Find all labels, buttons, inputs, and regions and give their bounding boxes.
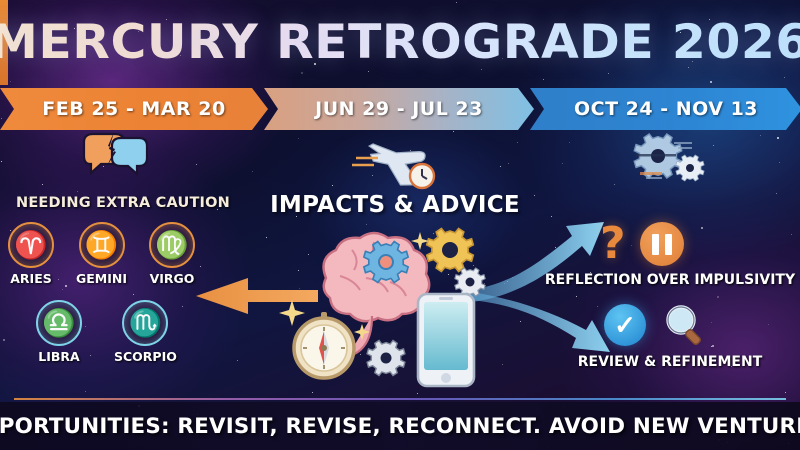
advice-label-review: REVIEW & REFINEMENT <box>540 354 800 370</box>
gear-icon <box>367 341 405 376</box>
footer-banner: OPPORTUNITIES: REVISIT, REVISE, RECONNEC… <box>0 402 800 450</box>
title-banner: MERCURY RETROGRADE 2026 <box>0 0 800 85</box>
page-title: MERCURY RETROGRADE 2026 <box>0 15 800 70</box>
impacts-panel: IMPACTS & ADVICE <box>250 132 540 392</box>
gemini-glyph-icon: ♊ <box>79 222 125 268</box>
zodiac-label-libra: LIBRA <box>38 349 79 364</box>
check-circle-icon: ✓ <box>604 304 646 346</box>
caution-heading: NEEDING EXTRA CAUTION <box>8 195 238 211</box>
zodiac-item-libra[interactable]: ♎ LIBRA <box>36 300 82 364</box>
footer-text: OPPORTUNITIES: REVISIT, REVISE, RECONNEC… <box>0 414 800 438</box>
virgo-glyph-icon: ♍ <box>149 222 195 268</box>
zodiac-row-cool: ♎ LIBRA ♏ SCORPIO <box>36 300 177 364</box>
review-icons: ✓ <box>604 302 708 348</box>
zodiac-item-gemini[interactable]: ♊ GEMINI <box>76 222 127 286</box>
advice-panel: ? REFLECTION OVER IMPULSIVITY ✓ REVIEW &… <box>540 132 800 392</box>
period-label-3: OCT 24 - NOV 13 <box>574 98 758 120</box>
period-chevron-3[interactable]: OCT 24 - NOV 13 <box>530 88 800 130</box>
caution-panel: NEEDING EXTRA CAUTION ♈ ARIES ♊ GEMINI ♍… <box>0 132 250 392</box>
gear-icon <box>427 229 473 272</box>
aries-glyph-icon: ♈ <box>8 222 54 268</box>
zodiac-item-scorpio[interactable]: ♏ SCORPIO <box>114 300 177 364</box>
zodiac-item-virgo[interactable]: ♍ VIRGO <box>149 222 195 286</box>
zodiac-label-scorpio: SCORPIO <box>114 349 177 364</box>
scorpio-glyph-icon: ♏ <box>122 300 168 346</box>
question-mark-icon: ? <box>600 222 626 266</box>
gear-icon <box>455 268 485 296</box>
retrograde-periods-bar: FEB 25 - MAR 20 JUN 29 - JUL 23 OCT 24 -… <box>0 88 800 130</box>
zodiac-row-warm: ♈ ARIES ♊ GEMINI ♍ VIRGO <box>8 222 195 286</box>
pause-icon <box>640 222 684 266</box>
gears-tech-glitch-icon <box>622 132 718 184</box>
period-label-1: FEB 25 - MAR 20 <box>42 98 225 120</box>
airplane-clock-delay-icon <box>348 134 444 192</box>
libra-glyph-icon: ♎ <box>36 300 82 346</box>
zodiac-label-virgo: VIRGO <box>150 271 195 286</box>
period-chevron-1[interactable]: FEB 25 - MAR 20 <box>0 88 268 130</box>
period-chevron-2[interactable]: JUN 29 - JUL 23 <box>264 88 534 130</box>
footer-divider <box>14 398 786 400</box>
zodiac-label-aries: ARIES <box>10 271 52 286</box>
compass-icon <box>294 312 354 378</box>
impacts-heading: IMPACTS & ADVICE <box>250 192 540 218</box>
infographic-poster: MERCURY RETROGRADE 2026 FEB 25 - MAR 20 … <box>0 0 800 450</box>
magnifier-icon <box>662 302 708 348</box>
broken-speech-bubbles-icon <box>78 132 150 188</box>
zodiac-label-gemini: GEMINI <box>76 271 127 286</box>
advice-label-reflection: REFLECTION OVER IMPULSIVITY <box>540 272 800 288</box>
period-label-2: JUN 29 - JUL 23 <box>315 98 483 120</box>
zodiac-item-aries[interactable]: ♈ ARIES <box>8 222 54 286</box>
reflection-icons: ? <box>600 222 684 266</box>
smartphone-icon <box>418 294 474 386</box>
impacts-icon-cluster <box>274 220 518 385</box>
